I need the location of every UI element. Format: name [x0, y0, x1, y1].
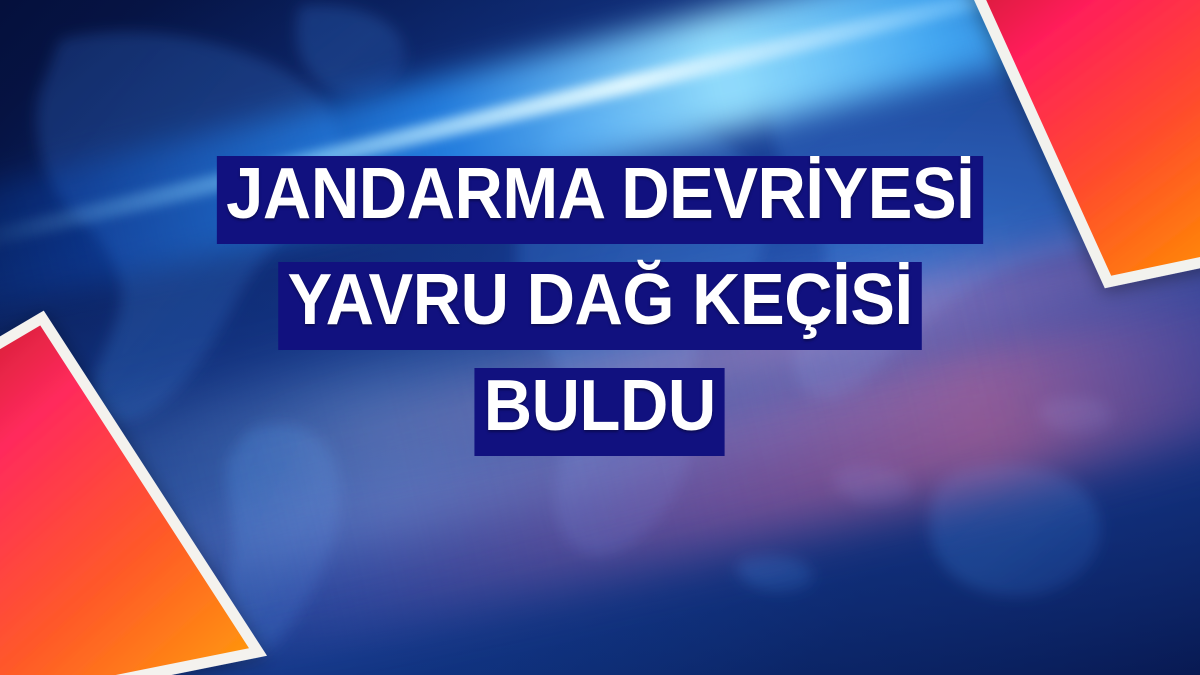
headline-line-1: JANDARMA DEVRİYESİ [0, 156, 1200, 248]
headline-line-1-text: JANDARMA DEVRİYESİ [217, 156, 984, 244]
headline-line-3-text: BULDU [475, 368, 726, 456]
banner-image: JANDARMA DEVRİYESİ YAVRU DAĞ KEÇİSİ BULD… [0, 0, 1200, 675]
headline-line-2: YAVRU DAĞ KEÇİSİ [0, 262, 1200, 354]
headline-line-2-text: YAVRU DAĞ KEÇİSİ [278, 262, 922, 350]
headline: JANDARMA DEVRİYESİ YAVRU DAĞ KEÇİSİ BULD… [0, 156, 1200, 460]
headline-line-3: BULDU [0, 368, 1200, 460]
